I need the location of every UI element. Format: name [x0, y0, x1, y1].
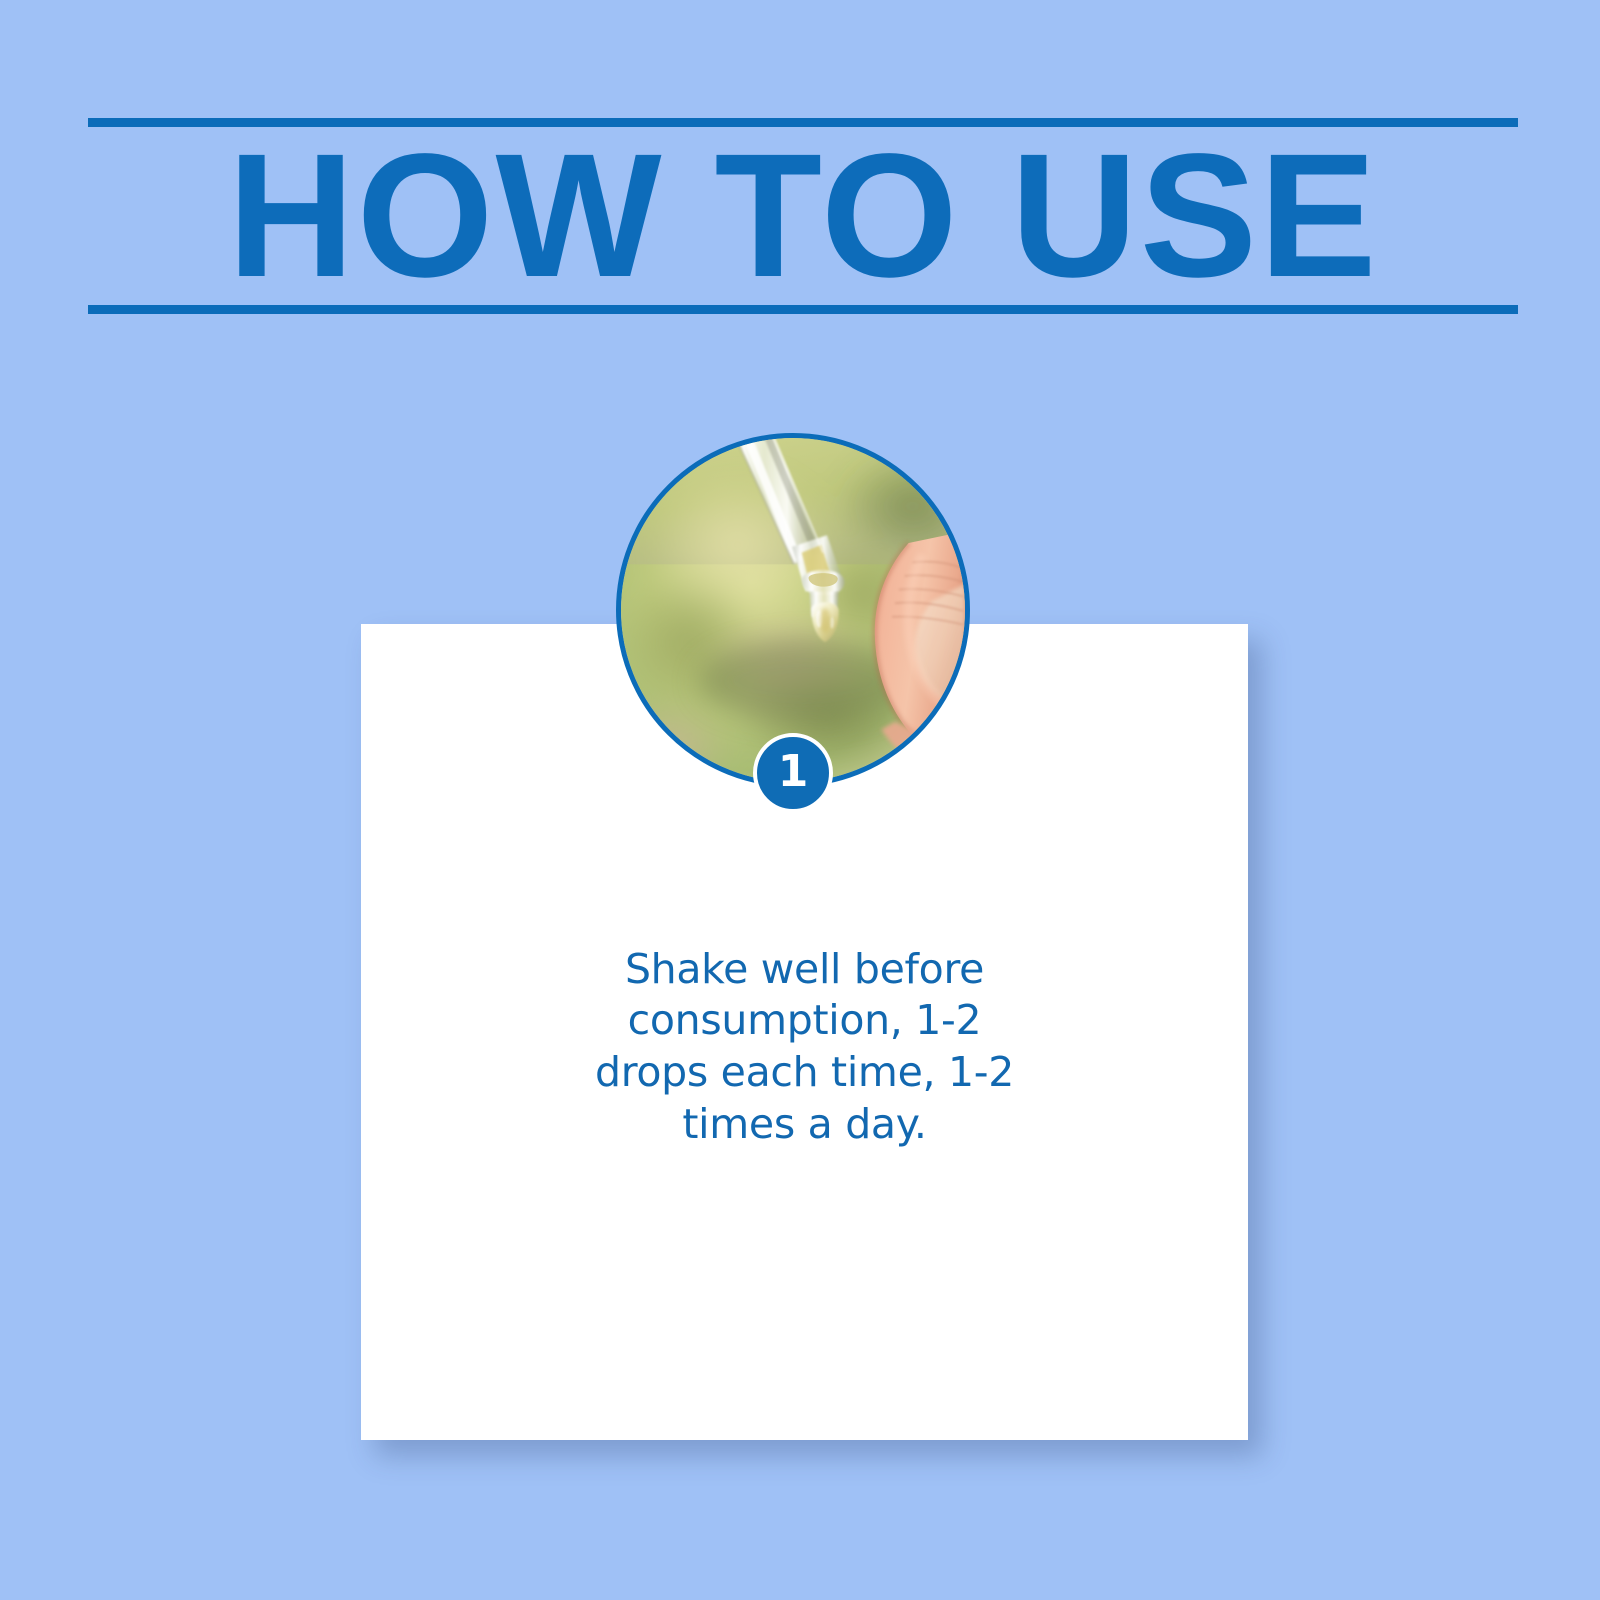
dropper-photo: [621, 438, 965, 782]
step-instruction-text: Shake well before consumption, 1-2 drops…: [570, 944, 1040, 1151]
step-number-label: 1: [778, 750, 809, 794]
step-number-badge: 1: [753, 733, 833, 813]
poster-canvas: HOW TO USE Shake well before consumption…: [0, 0, 1600, 1600]
page-title: HOW TO USE: [88, 118, 1518, 314]
dropper-photo-illustration: [621, 438, 965, 782]
header: HOW TO USE: [88, 118, 1518, 314]
title-bottom-divider: [88, 305, 1518, 314]
